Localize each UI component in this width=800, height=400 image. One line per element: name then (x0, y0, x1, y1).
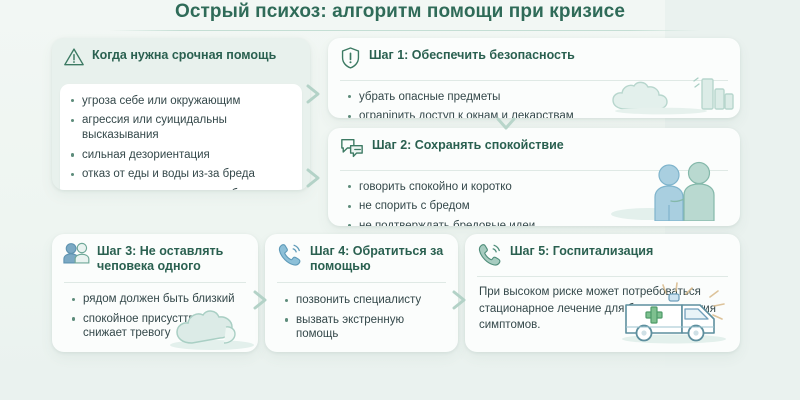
warning-panel-heading: Когда нужна срочная помощь (92, 46, 276, 63)
step-2-header: Шаг 2: Сохранять спокойствие (328, 128, 740, 170)
list-item: не спорить с бредом (346, 197, 728, 217)
step-1-header: Шаг 1: Обеспечить безопасность (328, 38, 740, 80)
speech-bubbles-icon (339, 136, 365, 165)
list-item: не подтверждать бредовые идеи (346, 216, 728, 226)
arrow-warning-to-step1 (303, 82, 329, 111)
step-1-heading: Шаг 1: Обеспечить безопасность (369, 46, 575, 63)
arrow-step4-to-step5 (449, 288, 475, 317)
list-item: отказ от еды и воды из-за бреда (66, 165, 296, 185)
warning-panel-list-box: угроза себе или окружающим агрессия или … (60, 84, 302, 190)
step-5-heading: Шаг 5: Госпитализация (510, 242, 653, 259)
list-item: ограninить доступ к окнам и лекарствам (346, 107, 728, 118)
step-4-list: позвонить специалисту вызвать экстренную… (265, 283, 458, 353)
list-item: агрессия или суицидальны высказывания (66, 111, 296, 145)
step-2-heading: Шаг 2: Сохранять спокойствие (372, 136, 564, 153)
step-5-card: Шаг 5: Госпитализация При высоком риске … (465, 234, 740, 352)
infographic-canvas: Острый психоз: алгоритм помощи при кризи… (0, 0, 800, 400)
step-2-card: Шаг 2: Сохранять спокойствие говорить сп… (328, 128, 740, 226)
list-item: рядом должен быть близкий (70, 290, 246, 310)
phone-ringing-icon (276, 242, 303, 271)
arrow-warning-to-step2 (303, 166, 329, 195)
list-item: вызвать экстренную помощь (283, 310, 446, 344)
step-5-paragraph: При высоком риске может потребоваться ст… (465, 277, 740, 344)
title-divider (110, 30, 700, 31)
arrow-step3-to-step4 (250, 288, 276, 317)
step-4-heading: Шаг 4: Обратиться за помощью (310, 242, 450, 275)
phone-ringing-icon (476, 242, 503, 271)
page-title: Острый психоз: алгоритм помощи при кризи… (0, 1, 800, 23)
step-4-card: Шаг 4: Обратиться за помощью позвонить с… (265, 234, 458, 352)
step-3-card: Шаг 3: Не оставлять чеповека одного рядо… (52, 234, 258, 352)
shield-exclamation-icon (339, 46, 362, 75)
list-item: убрать опасные предметы (346, 87, 728, 107)
list-item: угроза себе или окружающим (66, 91, 296, 111)
step-5-header: Шаг 5: Госпитализация (465, 234, 740, 276)
warning-panel-list: угроза себе или окружающим агрессия или … (66, 91, 296, 190)
list-item: сильное психомоторное возбуждение (66, 185, 296, 190)
step-2-list: говорить спокойно и коротко не спорить с… (328, 171, 740, 226)
step-1-list: убрать опасные предметы ограninить досту… (328, 81, 740, 118)
warning-triangle-icon (63, 46, 85, 73)
list-item: спокойное присусттвие снижает тревогу (70, 309, 234, 343)
list-item: говорить спокойно и коротко (346, 177, 728, 197)
step-3-header: Шаг 3: Не оставлять чеповека одного (52, 234, 258, 280)
step-3-list: рядом должен быть близкий спокойное прис… (52, 283, 258, 353)
two-persons-icon (63, 242, 90, 269)
step-1-card: Шаг 1: Обеспечить безопасность убрать оп… (328, 38, 740, 118)
step-3-heading: Шаг 3: Не оставлять чеповека одного (97, 242, 250, 275)
warning-panel: Когда нужна срочная помощь угроза себе и… (52, 38, 310, 190)
step-4-header: Шаг 4: Обратиться за помощью (265, 234, 458, 280)
list-item: сильная дезориентация (66, 145, 296, 165)
warning-panel-header: Когда нужна срочная помощь (52, 38, 310, 78)
arrow-step1-to-step2 (494, 114, 518, 139)
list-item: позвонить специалисту (283, 291, 446, 311)
